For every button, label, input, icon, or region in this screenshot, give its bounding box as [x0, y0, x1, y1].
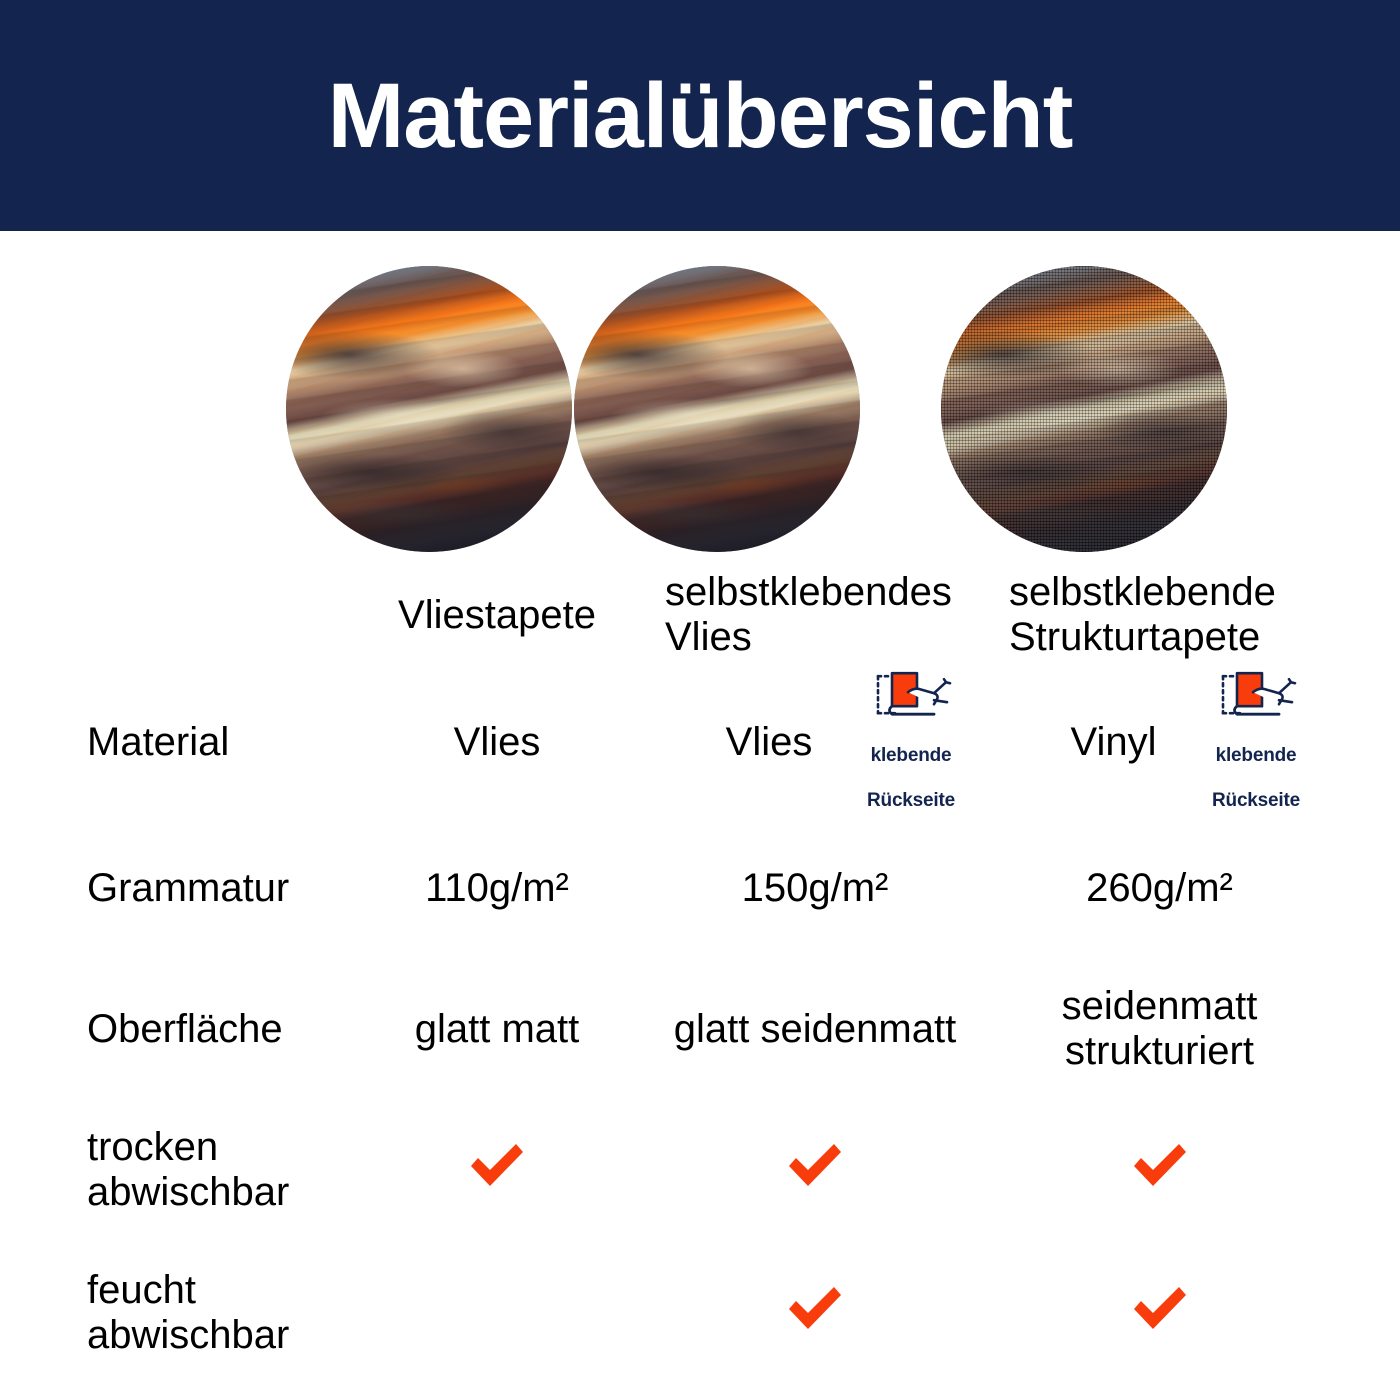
- cell-trocken-vliestapete: [351, 1100, 643, 1240]
- cell-value: Vlies: [726, 720, 813, 765]
- adhesive-backing-badge: klebende Rückseite: [1192, 668, 1320, 816]
- peeling-backing-icon: [1213, 668, 1299, 724]
- badge-line-2: Rückseite: [867, 790, 955, 811]
- cell-feucht-vliestapete: [351, 1240, 643, 1386]
- checkmark-icon: [1129, 1284, 1191, 1332]
- badge-label: klebende Rückseite: [1212, 745, 1300, 811]
- checkmark-icon: [784, 1141, 846, 1189]
- cell-material-selbstklebendes-vlies: Vlies: [643, 666, 987, 818]
- table-row: trocken abwischbar: [65, 1100, 1332, 1240]
- mesh-texture-icon: [941, 266, 1227, 552]
- sunset-sky-swatch-textured-icon: [941, 266, 1227, 552]
- badge-line-1: klebende: [1216, 745, 1297, 766]
- checkmark-icon: [1129, 1141, 1191, 1189]
- column-header-2: selbstklebendes Vlies: [643, 558, 987, 666]
- adhesive-backing-badge: klebende Rückseite: [847, 668, 975, 816]
- badge-line-2: Rückseite: [1212, 790, 1300, 811]
- column-header-3: selbstklebende Strukturtapete: [987, 558, 1332, 666]
- checkmark-icon: [466, 1141, 528, 1189]
- table-row: feucht abwischbar: [65, 1240, 1332, 1386]
- cell-grammatur-vliestapete: 110g/m²: [351, 818, 643, 958]
- cell-value: Vinyl: [1071, 720, 1157, 765]
- column-header-1: Vliestapete: [351, 558, 643, 666]
- peeling-backing-icon: [868, 668, 954, 724]
- cell-trocken-selbstklebendes-vlies: [643, 1100, 987, 1240]
- cell-material-strukturtapete: Vinyl: [987, 666, 1332, 818]
- product-swatch-strukturtapete: [941, 266, 1227, 552]
- table-row: Grammatur 110g/m² 150g/m² 260g/m²: [65, 818, 1332, 958]
- cell-feucht-selbstklebendes-vlies: [643, 1240, 987, 1386]
- header-banner: Materialübersicht: [0, 0, 1400, 231]
- cell-grammatur-strukturtapete: 260g/m²: [987, 818, 1332, 958]
- row-label-feucht-abwischbar: feucht abwischbar: [65, 1240, 351, 1386]
- cell-material-vliestapete: Vlies: [351, 666, 643, 818]
- cell-trocken-strukturtapete: [987, 1100, 1332, 1240]
- row-label-grammatur: Grammatur: [65, 818, 351, 958]
- cell-feucht-strukturtapete: [987, 1240, 1332, 1386]
- product-swatch-row: [65, 266, 1332, 558]
- cell-value: Vlies: [454, 720, 541, 765]
- product-swatch-selbstklebendes-vlies: [574, 266, 860, 552]
- material-comparison-table: Vliestapete selbstklebendes Vlies selbst…: [65, 558, 1332, 1386]
- table-row: Oberfläche glatt matt glatt seidenmatt s…: [65, 958, 1332, 1100]
- sunset-sky-swatch-icon: [574, 266, 860, 552]
- cell-oberflaeche-strukturtapete: seidenmatt strukturiert: [987, 958, 1332, 1100]
- cell-grammatur-selbstklebendes-vlies: 150g/m²: [643, 818, 987, 958]
- badge-label: klebende Rückseite: [867, 745, 955, 811]
- row-label-trocken-abwischbar: trocken abwischbar: [65, 1100, 351, 1240]
- product-swatch-vliestapete: [286, 266, 572, 552]
- cell-oberflaeche-selbstklebendes-vlies: glatt seidenmatt: [643, 958, 987, 1100]
- page-title: Materialübersicht: [328, 70, 1073, 162]
- sunset-sky-swatch-icon: [286, 266, 572, 552]
- row-label-oberflaeche: Oberfläche: [65, 958, 351, 1100]
- cell-oberflaeche-vliestapete: glatt matt: [351, 958, 643, 1100]
- table-header-row: Vliestapete selbstklebendes Vlies selbst…: [65, 558, 1332, 666]
- row-label-material: Material: [65, 666, 351, 818]
- header-corner-cell: [65, 558, 351, 666]
- checkmark-icon: [784, 1284, 846, 1332]
- table-row: Material Vlies Vlies: [65, 666, 1332, 818]
- badge-line-1: klebende: [871, 745, 952, 766]
